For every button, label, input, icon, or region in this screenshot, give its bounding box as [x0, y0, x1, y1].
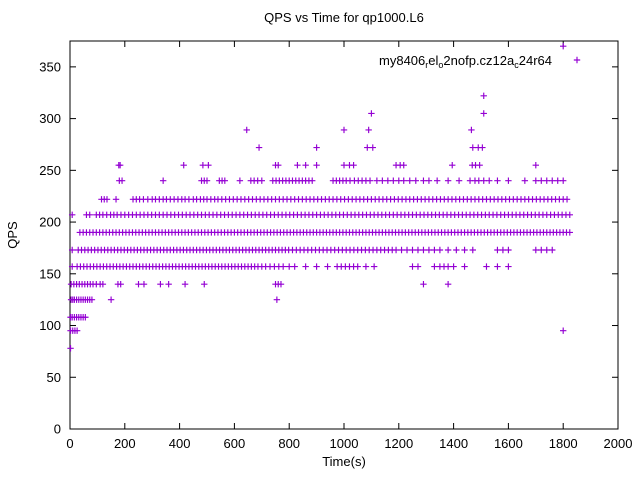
x-tick-label: 1400 — [439, 436, 468, 451]
x-tick-label: 1600 — [494, 436, 523, 451]
y-tick-label: 50 — [47, 370, 61, 385]
page-title: QPS vs Time for qp1000.L6 — [264, 10, 424, 25]
y-tick-label: 300 — [39, 111, 61, 126]
x-tick-label: 800 — [278, 436, 300, 451]
y-tick-label: 200 — [39, 215, 61, 230]
x-tick-label: 1800 — [549, 436, 578, 451]
x-tick-label: 2000 — [604, 436, 633, 451]
chart-background — [0, 0, 640, 480]
y-tick-label: 350 — [39, 59, 61, 74]
y-axis-label: QPS — [5, 221, 20, 249]
chart-container: 050100150200250300350 020040060080010001… — [0, 0, 640, 480]
qps-vs-time-scatter-plot: 050100150200250300350 020040060080010001… — [0, 0, 640, 480]
x-tick-label: 1200 — [384, 436, 413, 451]
x-tick-label: 1000 — [330, 436, 359, 451]
x-tick-label: 400 — [169, 436, 191, 451]
x-tick-label: 200 — [114, 436, 136, 451]
x-axis-label: Time(s) — [322, 454, 366, 469]
x-tick-label: 0 — [66, 436, 73, 451]
y-tick-label: 150 — [39, 266, 61, 281]
y-tick-label: 100 — [39, 318, 61, 333]
legend[interactable]: my8406relo2nofp.cz12ac24r64 — [379, 53, 580, 70]
x-tick-label: 600 — [224, 436, 246, 451]
legend-entry-label: my8406relo2nofp.cz12ac24r64 — [379, 53, 552, 70]
y-tick-label: 0 — [54, 422, 61, 437]
y-tick-label: 250 — [39, 163, 61, 178]
